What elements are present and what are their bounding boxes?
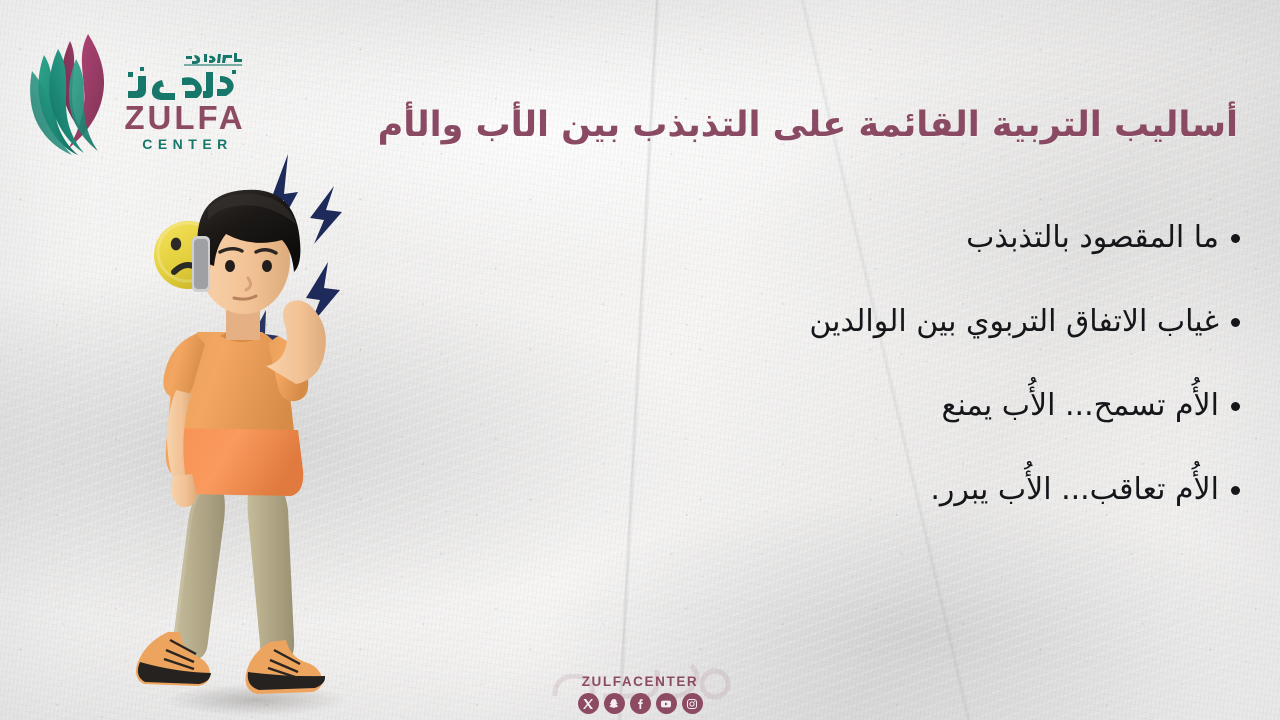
list-item: غياب الاتفاق التربوي بين الوالدين <box>620 302 1240 341</box>
list-item-label: الأُم تسمح... الأُب يمنع <box>942 386 1219 425</box>
bullet-dot-icon <box>1231 486 1240 495</box>
logo-text-block: ZULFA CENTER <box>120 36 250 151</box>
bullet-dot-icon <box>1231 234 1240 243</box>
list-item-label: الأُم تعاقب... الأُب يبرر. <box>930 470 1219 509</box>
bullet-dot-icon <box>1231 318 1240 327</box>
zulfa-center-logo: ZULFA CENTER <box>28 28 258 158</box>
list-item: الأُم تعاقب... الأُب يبرر. <box>620 470 1240 509</box>
list-item-label: غياب الاتفاق التربوي بين الوالدين <box>809 302 1219 341</box>
x-twitter-icon[interactable] <box>578 693 599 714</box>
list-item-label: ما المقصود بالتذبذب <box>966 218 1219 257</box>
bullet-list: ما المقصود بالتذبذب غياب الاتفاق التربوي… <box>620 218 1240 509</box>
youtube-icon[interactable] <box>656 693 677 714</box>
social-links <box>578 693 703 714</box>
logo-arabic-wordmark-icon <box>120 50 250 102</box>
zulfa-flame-mark-icon <box>28 31 114 156</box>
snapchat-icon[interactable] <box>604 693 625 714</box>
slide-canvas: ZULFA CENTER أساليب التربية القائمة على … <box>0 0 1280 720</box>
logo-latin-name: ZULFA <box>124 101 245 134</box>
page-title: أساليب التربية القائمة على التذبذب بين ا… <box>288 104 1238 147</box>
bullet-dot-icon <box>1231 402 1240 411</box>
footer: ZULFACENTER <box>0 674 1280 714</box>
facebook-icon[interactable] <box>630 693 651 714</box>
illustration-3d-boy-on-phone <box>128 140 398 720</box>
list-item: ما المقصود بالتذبذب <box>620 218 1240 257</box>
footer-brand-name: ZULFACENTER <box>582 674 699 689</box>
instagram-icon[interactable] <box>682 693 703 714</box>
list-item: الأُم تسمح... الأُب يمنع <box>620 386 1240 425</box>
